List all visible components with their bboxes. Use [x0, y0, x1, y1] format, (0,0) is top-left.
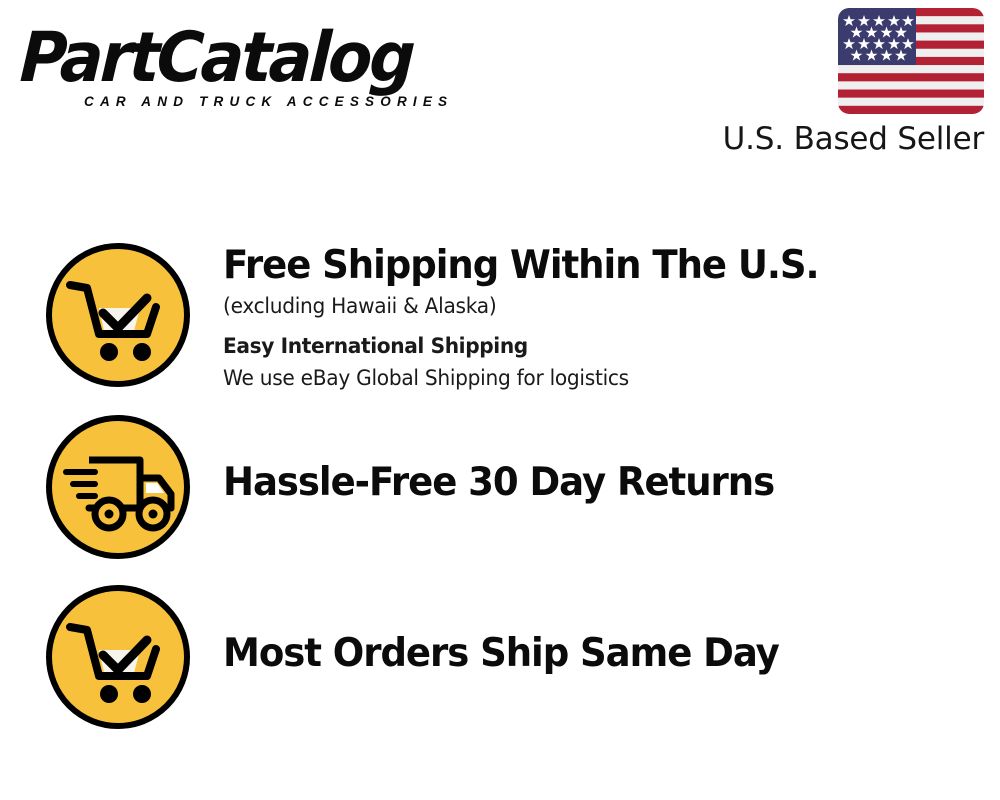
feature-list: Free Shipping Within The U.S. (excluding…	[0, 240, 1000, 752]
promo-banner: PartCatalog CAR AND TRUCK ACCESSORIES	[0, 0, 1000, 800]
feature-title: Hassle-Free 30 Day Returns	[223, 459, 961, 506]
feature-text: Free Shipping Within The U.S. (excluding…	[223, 240, 1000, 393]
us-flag-icon	[838, 8, 984, 114]
brand-tagline: CAR AND TRUCK ACCESSORIES	[84, 94, 453, 109]
feature-row: Free Shipping Within The U.S. (excluding…	[0, 240, 1000, 412]
brand-logo: PartCatalog CAR AND TRUCK ACCESSORIES	[22, 22, 492, 114]
feature-row: Most Orders Ship Same Day	[0, 582, 1000, 752]
feature-title: Most Orders Ship Same Day	[223, 630, 961, 677]
feature-text: Most Orders Ship Same Day	[223, 582, 1000, 677]
feature-secondary-subtitle: We use eBay Global Shipping for logistic…	[223, 363, 969, 393]
feature-row: Hassle-Free 30 Day Returns	[0, 412, 1000, 582]
feature-title: Free Shipping Within The U.S.	[223, 242, 961, 289]
shopping-cart-check-icon	[43, 582, 193, 732]
shopping-cart-check-icon	[43, 240, 193, 390]
brand-wordmark: PartCatalog	[18, 22, 459, 94]
delivery-truck-icon	[43, 412, 193, 562]
feature-text: Hassle-Free 30 Day Returns	[223, 412, 1000, 506]
feature-subtitle: (excluding Hawaii & Alaska)	[223, 291, 969, 321]
seller-badge: U.S. Based Seller	[714, 8, 984, 158]
seller-label: U.S. Based Seller	[714, 120, 984, 158]
feature-secondary-title: Easy International Shipping	[223, 331, 969, 361]
